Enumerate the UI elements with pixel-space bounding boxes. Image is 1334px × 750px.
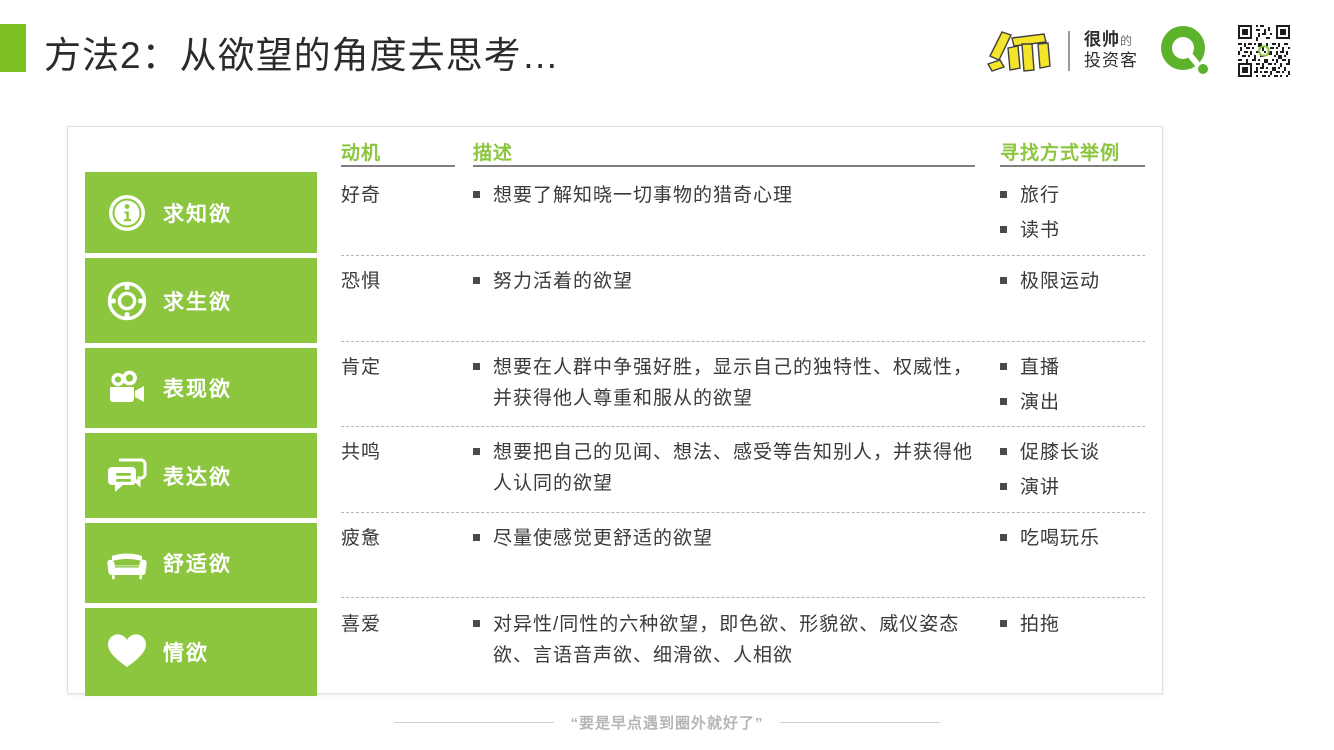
row-separator <box>341 512 1145 513</box>
category-tile-shushiyu[interactable]: 舒适欲 <box>85 523 317 603</box>
description-bullet: 努力活着的欲望 <box>473 266 973 297</box>
brand-cluster: 很帅的 投资客 <box>982 18 1292 84</box>
brand-line-1: 很帅的 <box>1084 30 1138 51</box>
column-header-examples: 寻找方式举例 <box>1000 138 1120 165</box>
example-bullet: 直播 <box>1000 352 1150 383</box>
motive-value: 好奇 <box>341 180 381 207</box>
description-cell: 想要在人群中争强好胜，显示自己的独特性、权威性，并获得他人尊重和服从的欲望 <box>473 352 973 418</box>
description-bullet: 尽量使感觉更舒适的欲望 <box>473 523 973 554</box>
category-tile-qingyu[interactable]: 情欲 <box>85 608 317 696</box>
bullet-marker-icon <box>473 448 480 455</box>
examples-cell: 拍拖 <box>1000 609 1150 644</box>
row-separator <box>341 597 1145 598</box>
description-bullet: 想要在人群中争强好胜，显示自己的独特性、权威性，并获得他人尊重和服从的欲望 <box>473 352 973 414</box>
examples-cell: 旅行 读书 <box>1000 180 1150 250</box>
footer-rule-left <box>394 722 554 723</box>
bullet-marker-icon <box>1000 363 1007 370</box>
example-text: 读书 <box>1020 215 1060 246</box>
example-bullet: 演出 <box>1000 387 1150 418</box>
example-text: 直播 <box>1020 352 1060 383</box>
motive-value: 肯定 <box>341 352 381 379</box>
bullet-marker-icon <box>1000 534 1007 541</box>
example-bullet: 演讲 <box>1000 472 1150 503</box>
category-tile-biaodayu[interactable]: 表达欲 <box>85 433 317 518</box>
description-text: 想要把自己的见闻、想法、感受等告知别人，并获得他人认同的欲望 <box>493 437 973 499</box>
description-text: 对异性/同性的六种欲望，即色欲、形貌欲、威仪姿态欲、言语音声欲、细滑欲、人相欲 <box>493 609 973 671</box>
category-label: 情欲 <box>163 637 209 667</box>
example-bullet: 极限运动 <box>1000 266 1150 297</box>
bullet-marker-icon <box>1000 448 1007 455</box>
column-header-motive: 动机 <box>341 138 381 165</box>
example-text: 促膝长谈 <box>1020 437 1100 468</box>
motive-value: 共鸣 <box>341 437 381 464</box>
bullet-marker-icon <box>1000 191 1007 198</box>
title-accent-bar <box>0 24 26 72</box>
speech-bubbles-icon <box>105 454 149 498</box>
examples-cell: 促膝长谈 演讲 <box>1000 437 1150 507</box>
category-label: 表现欲 <box>163 373 232 403</box>
column-rule-description <box>473 165 975 167</box>
footer-quote: “要是早点遇到圈外就好了” <box>570 712 763 733</box>
brand-name-strong: 很帅 <box>1084 30 1120 49</box>
description-cell: 想要了解知晓一切事物的猎奇心理 <box>473 180 973 215</box>
bullet-marker-icon <box>1000 483 1007 490</box>
description-cell: 对异性/同性的六种欲望，即色欲、形貌欲、威仪姿态欲、言语音声欲、细滑欲、人相欲 <box>473 609 973 675</box>
description-text: 尽量使感觉更舒适的欲望 <box>493 523 713 554</box>
page-header: 方法2：从欲望的角度去思考… 很帅的 投资客 <box>0 0 1334 110</box>
category-label: 舒适欲 <box>163 548 232 578</box>
example-text: 旅行 <box>1020 180 1060 211</box>
row-separator <box>341 255 1145 256</box>
category-tile-biaoxianyu[interactable]: 表现欲 <box>85 348 317 428</box>
page-title: 方法2：从欲望的角度去思考… <box>44 25 560 79</box>
motive-value: 疲惫 <box>341 523 381 550</box>
info-circle-icon <box>105 191 149 235</box>
example-text: 极限运动 <box>1020 266 1100 297</box>
category-tile-qiuzhiyu[interactable]: 求知欲 <box>85 172 317 253</box>
bullet-marker-icon <box>1000 620 1007 627</box>
bullet-marker-icon <box>473 191 480 198</box>
column-header-description: 描述 <box>473 138 513 165</box>
brand-divider <box>1068 31 1070 71</box>
description-cell: 想要把自己的见闻、想法、感受等告知别人，并获得他人认同的欲望 <box>473 437 973 503</box>
description-bullet: 想要把自己的见闻、想法、感受等告知别人，并获得他人认同的欲望 <box>473 437 973 499</box>
qr-code-icon <box>1236 23 1292 79</box>
category-label: 求生欲 <box>163 286 232 316</box>
motive-value: 恐惧 <box>341 266 381 293</box>
brand-wordmark: 很帅的 投资客 <box>1084 30 1138 71</box>
bullet-marker-icon <box>473 363 480 370</box>
bullet-marker-icon <box>473 620 480 627</box>
life-ring-icon <box>105 279 149 323</box>
q-circle-logo-icon <box>1158 24 1212 78</box>
example-bullet: 旅行 <box>1000 180 1150 211</box>
bullet-marker-icon <box>1000 226 1007 233</box>
example-bullet: 拍拖 <box>1000 609 1150 640</box>
example-bullet: 读书 <box>1000 215 1150 246</box>
examples-cell: 吃喝玩乐 <box>1000 523 1150 558</box>
brand-name-particle: 的 <box>1120 34 1132 48</box>
examples-cell: 直播 演出 <box>1000 352 1150 422</box>
description-cell: 努力活着的欲望 <box>473 266 973 301</box>
column-rule-motive <box>341 165 455 167</box>
description-cell: 尽量使感觉更舒适的欲望 <box>473 523 973 558</box>
example-text: 演讲 <box>1020 472 1060 503</box>
description-text: 努力活着的欲望 <box>493 266 633 297</box>
brand-line-2: 投资客 <box>1084 51 1138 72</box>
bullet-marker-icon <box>1000 398 1007 405</box>
category-label: 表达欲 <box>163 461 232 491</box>
description-bullet: 想要了解知晓一切事物的猎奇心理 <box>473 180 973 211</box>
example-bullet: 促膝长谈 <box>1000 437 1150 468</box>
bullet-marker-icon <box>473 534 480 541</box>
example-text: 演出 <box>1020 387 1060 418</box>
description-text: 想要了解知晓一切事物的猎奇心理 <box>493 180 793 211</box>
example-bullet: 吃喝玩乐 <box>1000 523 1150 554</box>
sofa-icon <box>105 541 149 585</box>
category-tile-list: 求知欲 求生欲 <box>85 172 317 701</box>
footer-rule-right <box>780 722 940 723</box>
motive-value: 喜爱 <box>341 609 381 636</box>
category-tile-qiushengyu[interactable]: 求生欲 <box>85 258 317 343</box>
row-separator <box>341 341 1145 342</box>
example-text: 拍拖 <box>1020 609 1060 640</box>
column-rule-examples <box>1000 165 1145 167</box>
examples-cell: 极限运动 <box>1000 266 1150 301</box>
description-text: 想要在人群中争强好胜，显示自己的独特性、权威性，并获得他人尊重和服从的欲望 <box>493 352 973 414</box>
page-footer: “要是早点遇到圈外就好了” <box>0 712 1334 733</box>
bullet-marker-icon <box>473 277 480 284</box>
shuai-calligraphy-logo-icon <box>982 22 1054 80</box>
description-bullet: 对异性/同性的六种欲望，即色欲、形貌欲、威仪姿态欲、言语音声欲、细滑欲、人相欲 <box>473 609 973 671</box>
category-label: 求知欲 <box>163 198 232 228</box>
row-separator <box>341 426 1145 427</box>
example-text: 吃喝玩乐 <box>1020 523 1100 554</box>
bullet-marker-icon <box>1000 277 1007 284</box>
heart-icon <box>105 630 149 674</box>
video-camera-icon <box>105 366 149 410</box>
